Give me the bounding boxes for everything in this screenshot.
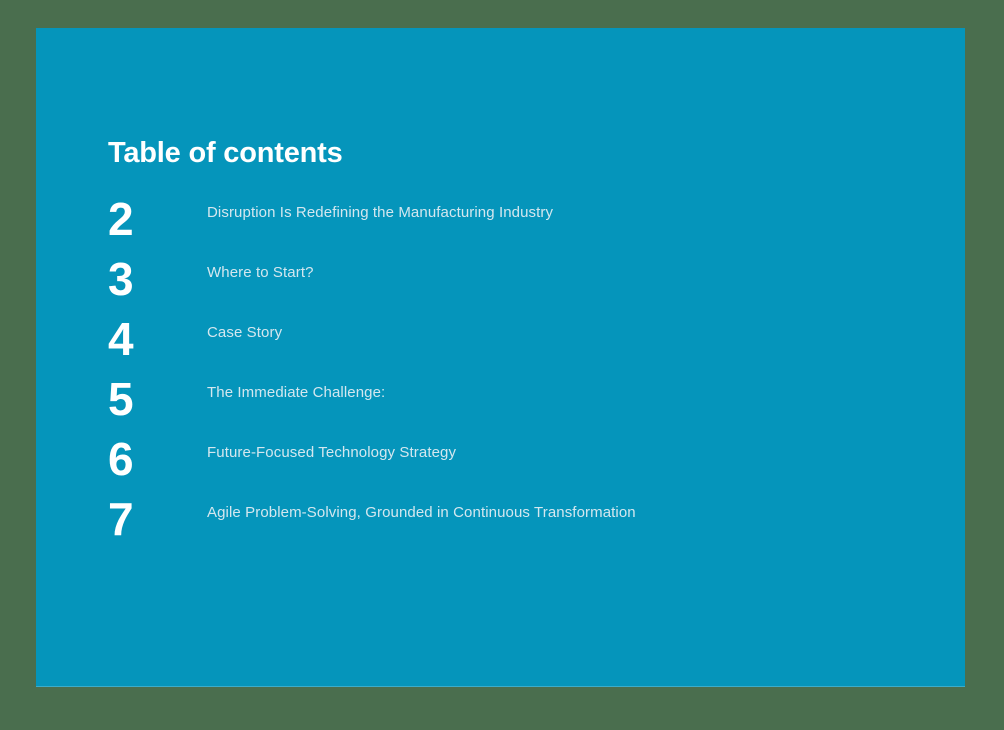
toc-page-number: 5 xyxy=(108,376,160,422)
toc-page-number: 7 xyxy=(108,496,160,542)
toc-entry-3[interactable]: 4 Case Story xyxy=(108,318,928,378)
slide-bottom-divider xyxy=(36,686,965,687)
page-canvas: Table of contents 2 Disruption Is Redefi… xyxy=(0,0,1004,730)
toc-page-number: 3 xyxy=(108,256,160,302)
toc-page-number: 4 xyxy=(108,316,160,362)
toc-entry-label: Agile Problem-Solving, Grounded in Conti… xyxy=(207,503,636,523)
toc-entry-6[interactable]: 7 Agile Problem-Solving, Grounded in Con… xyxy=(108,498,928,558)
toc-entry-label: Future-Focused Technology Strategy xyxy=(207,443,456,463)
toc-entry-label: Where to Start? xyxy=(207,263,314,283)
toc-entry-4[interactable]: 5 The Immediate Challenge: xyxy=(108,378,928,438)
toc-entry-5[interactable]: 6 Future-Focused Technology Strategy xyxy=(108,438,928,498)
toc-page-number: 6 xyxy=(108,436,160,482)
table-of-contents-list: 2 Disruption Is Redefining the Manufactu… xyxy=(108,198,928,558)
toc-entry-label: The Immediate Challenge: xyxy=(207,383,385,403)
presentation-slide: Table of contents 2 Disruption Is Redefi… xyxy=(36,28,965,687)
toc-entry-label: Disruption Is Redefining the Manufacturi… xyxy=(207,203,553,223)
toc-page-number: 2 xyxy=(108,196,160,242)
toc-entry-2[interactable]: 3 Where to Start? xyxy=(108,258,928,318)
toc-entry-label: Case Story xyxy=(207,323,282,343)
page-title: Table of contents xyxy=(108,136,343,170)
toc-entry-1[interactable]: 2 Disruption Is Redefining the Manufactu… xyxy=(108,198,928,258)
